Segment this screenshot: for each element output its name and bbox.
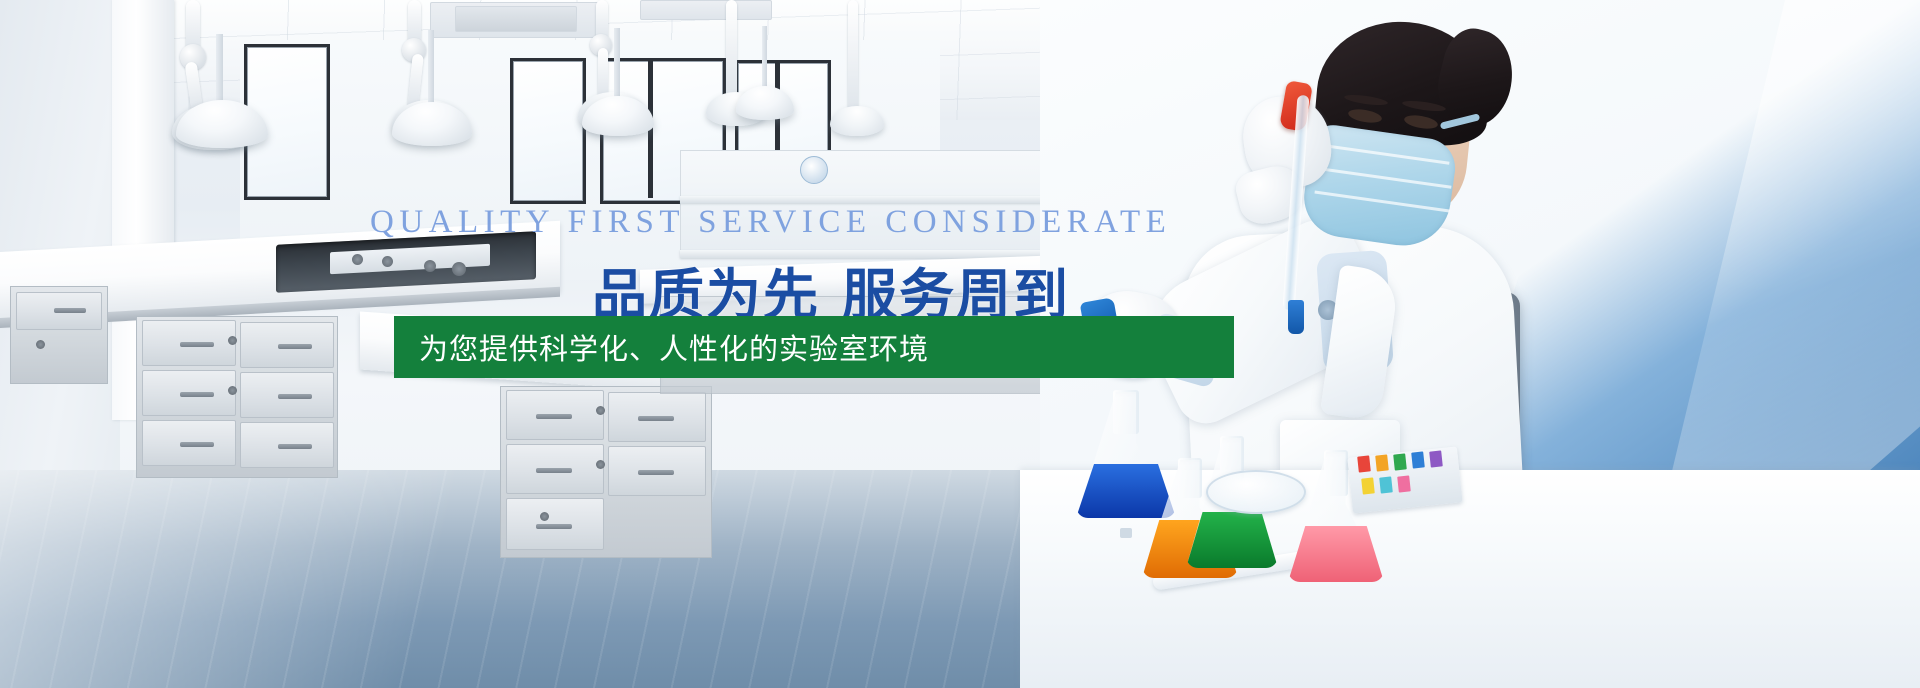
service-panel-knob-3 [424, 260, 436, 272]
lamp-rod-2 [428, 30, 434, 106]
tip-yellow [1361, 477, 1375, 494]
drawer-lock-c-2 [228, 386, 237, 395]
drawer-handle-c-6 [278, 444, 312, 449]
wall-shelf-unit [680, 150, 1092, 257]
drawer-handle-r-5 [536, 524, 572, 529]
tip-pink [1397, 475, 1411, 492]
petri-dish [1206, 470, 1306, 514]
tip-red [1357, 455, 1371, 472]
ceiling-vent-grille [455, 6, 577, 32]
front-bench-top [360, 312, 660, 391]
shelf-rail-1 [680, 196, 1090, 203]
tip-blue [1411, 451, 1425, 468]
shelf-logo-badge [800, 156, 828, 184]
lamp-rod-4 [762, 26, 767, 92]
lamp-rod-3 [614, 28, 620, 100]
lamp-rod-1 [216, 34, 223, 106]
tip-purple [1429, 450, 1443, 467]
drawer-handle-c-1 [180, 342, 214, 347]
drawer-lock-r-3 [540, 512, 549, 521]
laboratory-hero-banner: QUALITY FIRST SERVICE CONSIDERATE 品质为先服务… [0, 0, 1920, 688]
ceiling-panel-right [640, 0, 772, 20]
drawer-handle-c-3 [180, 392, 214, 397]
drawer-handle-c-2 [278, 344, 312, 349]
extraction-hood-5 [830, 106, 884, 136]
drawer-handle-r-4 [638, 470, 674, 475]
window-center-a [510, 58, 586, 204]
lab-room-scene [0, 0, 1100, 688]
drawer-lock-c-1 [228, 336, 237, 345]
service-panel-knob-4 [452, 262, 466, 276]
drawer-handle-c-4 [278, 394, 312, 399]
pipette-blue-liquid [1288, 300, 1304, 334]
back-bench-cabinets [660, 296, 1082, 394]
tip-cyan [1379, 476, 1393, 493]
bench-small-clip-1 [1120, 528, 1132, 538]
drawer-handle-c-5 [180, 442, 214, 447]
extraction-arm-4 [726, 0, 737, 98]
extraction-arm-3-lower [598, 48, 608, 98]
service-panel-knob-2 [382, 256, 393, 267]
drawer-handle-r-2 [638, 416, 674, 421]
drawer-handle-r-3 [536, 468, 572, 473]
tip-orange [1375, 454, 1389, 471]
blue-pipette-tip [1080, 297, 1119, 332]
drawer-handle-r-1 [536, 414, 572, 419]
extraction-arm-5 [848, 0, 858, 112]
cabinet-lock-fl [36, 340, 45, 349]
tip-green [1393, 453, 1407, 470]
drawer-lock-r-2 [596, 460, 605, 469]
drawer-handle-fl-1 [54, 308, 86, 313]
drawer-lock-r-1 [596, 406, 605, 415]
service-panel-knob-1 [352, 254, 363, 265]
